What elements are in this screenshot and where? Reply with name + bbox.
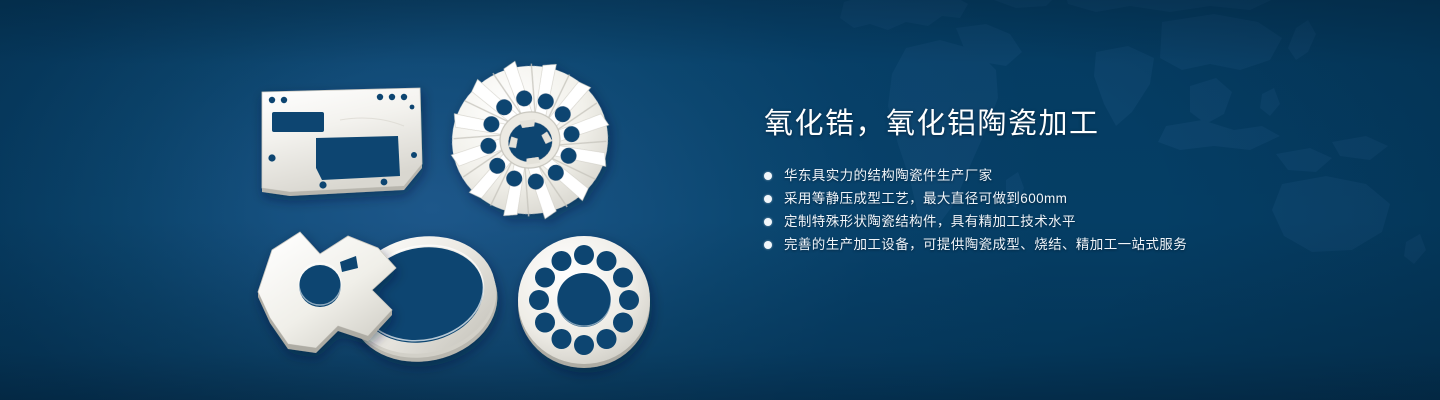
bullet-dot-icon: [764, 195, 772, 203]
ceramic-mounting-plate: [262, 88, 422, 196]
ceramic-perforated-disc: [518, 236, 650, 368]
feature-text: 完善的生产加工设备，可提供陶瓷成型、烧结、精加工一站式服务: [784, 233, 1187, 256]
list-item: 采用等静压成型工艺，最大直径可做到600mm: [764, 187, 1404, 210]
list-item: 定制特殊形状陶瓷结构件，具有精加工技术水平: [764, 210, 1404, 233]
feature-text: 华东具实力的结构陶瓷件生产厂家: [784, 164, 993, 187]
bullet-dot-icon: [764, 241, 772, 249]
bullet-dot-icon: [764, 218, 772, 226]
feature-list: 华东具实力的结构陶瓷件生产厂家 采用等静压成型工艺，最大直径可做到600mm 定…: [764, 164, 1404, 256]
ceramic-processing-banner: 氧化锆，氧化铝陶瓷加工 华东具实力的结构陶瓷件生产厂家 采用等静压成型工艺，最大…: [0, 0, 1440, 400]
feature-text: 定制特殊形状陶瓷结构件，具有精加工技术水平: [784, 210, 1076, 233]
feature-text: 采用等静压成型工艺，最大直径可做到600mm: [784, 187, 1067, 210]
banner-headline: 氧化锆，氧化铝陶瓷加工: [764, 104, 1404, 144]
banner-text-block: 氧化锆，氧化铝陶瓷加工 华东具实力的结构陶瓷件生产厂家 采用等静压成型工艺，最大…: [764, 104, 1404, 256]
list-item: 华东具实力的结构陶瓷件生产厂家: [764, 164, 1404, 187]
ceramic-impeller-disc: [440, 50, 621, 231]
list-item: 完善的生产加工设备，可提供陶瓷成型、烧结、精加工一站式服务: [764, 233, 1404, 256]
ceramic-products-image: [0, 0, 720, 400]
bullet-dot-icon: [764, 172, 772, 180]
